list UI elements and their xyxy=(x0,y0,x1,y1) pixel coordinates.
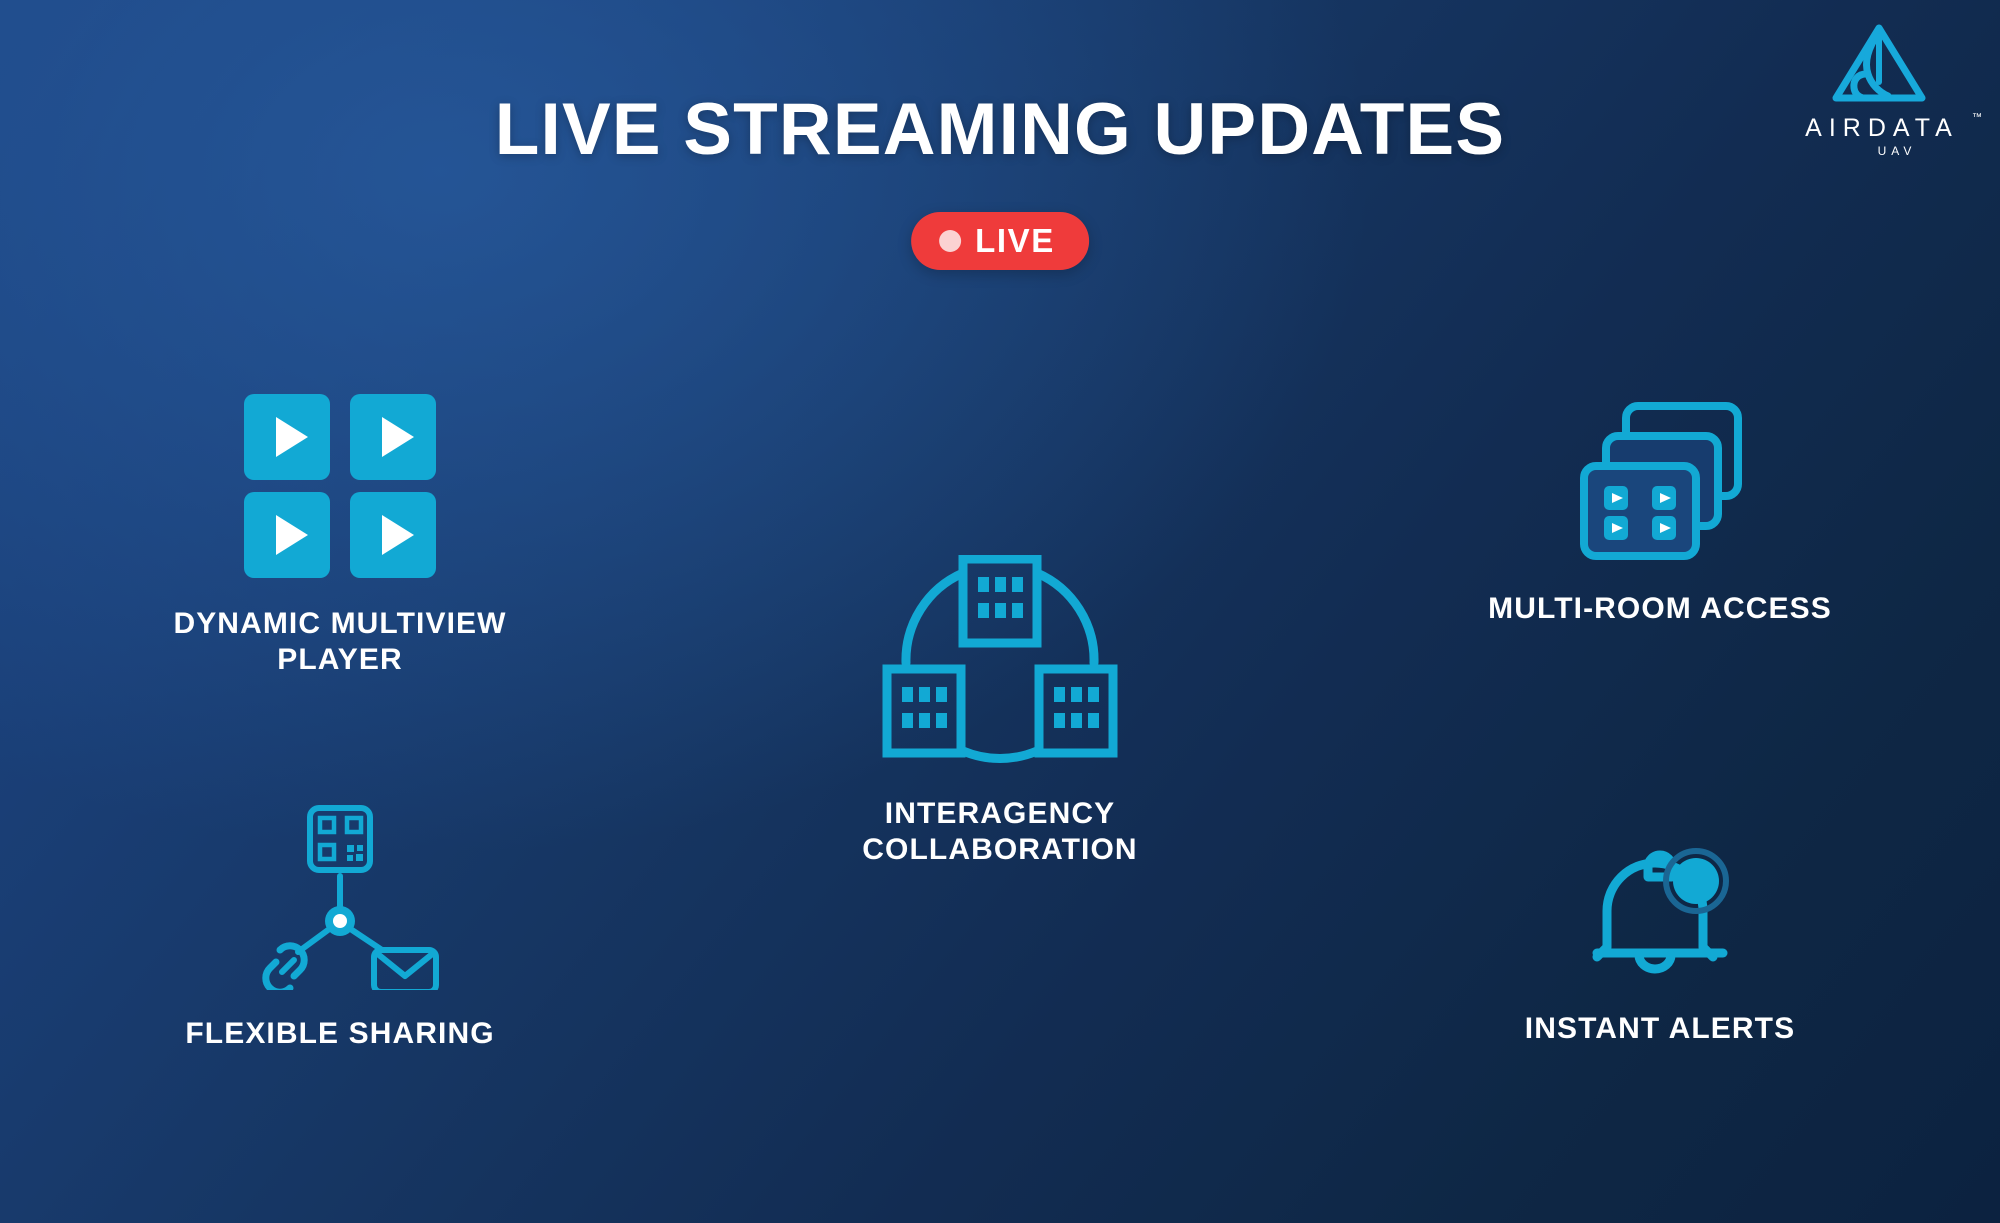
feature-caption: FLEXIBLE SHARING xyxy=(185,1016,494,1052)
three-buildings-network-icon xyxy=(875,555,1125,770)
feature-instant-alerts[interactable]: INSTANT ALERTS xyxy=(1430,835,1890,1047)
bell-notification-icon xyxy=(1575,835,1745,985)
multiview-player-grid-icon xyxy=(240,390,440,580)
feature-flexible-sharing[interactable]: FLEXIBLE SHARING xyxy=(110,800,570,1052)
feature-grid: DYNAMIC MULTIVIEW PLAYER xyxy=(0,0,2000,1223)
share-network-icon xyxy=(240,800,440,990)
feature-interagency-collaboration[interactable]: INTERAGENCY COLLABORATION xyxy=(770,555,1230,868)
feature-multi-room-access[interactable]: MULTI-ROOM ACCESS xyxy=(1430,400,1890,627)
feature-caption: INSTANT ALERTS xyxy=(1525,1011,1795,1047)
stacked-screens-icon xyxy=(1570,400,1750,565)
feature-caption: INTERAGENCY COLLABORATION xyxy=(740,796,1260,868)
feature-caption: DYNAMIC MULTIVIEW PLAYER xyxy=(80,606,600,678)
feature-caption: MULTI-ROOM ACCESS xyxy=(1400,591,1920,627)
feature-dynamic-multiview-player[interactable]: DYNAMIC MULTIVIEW PLAYER xyxy=(110,390,570,678)
